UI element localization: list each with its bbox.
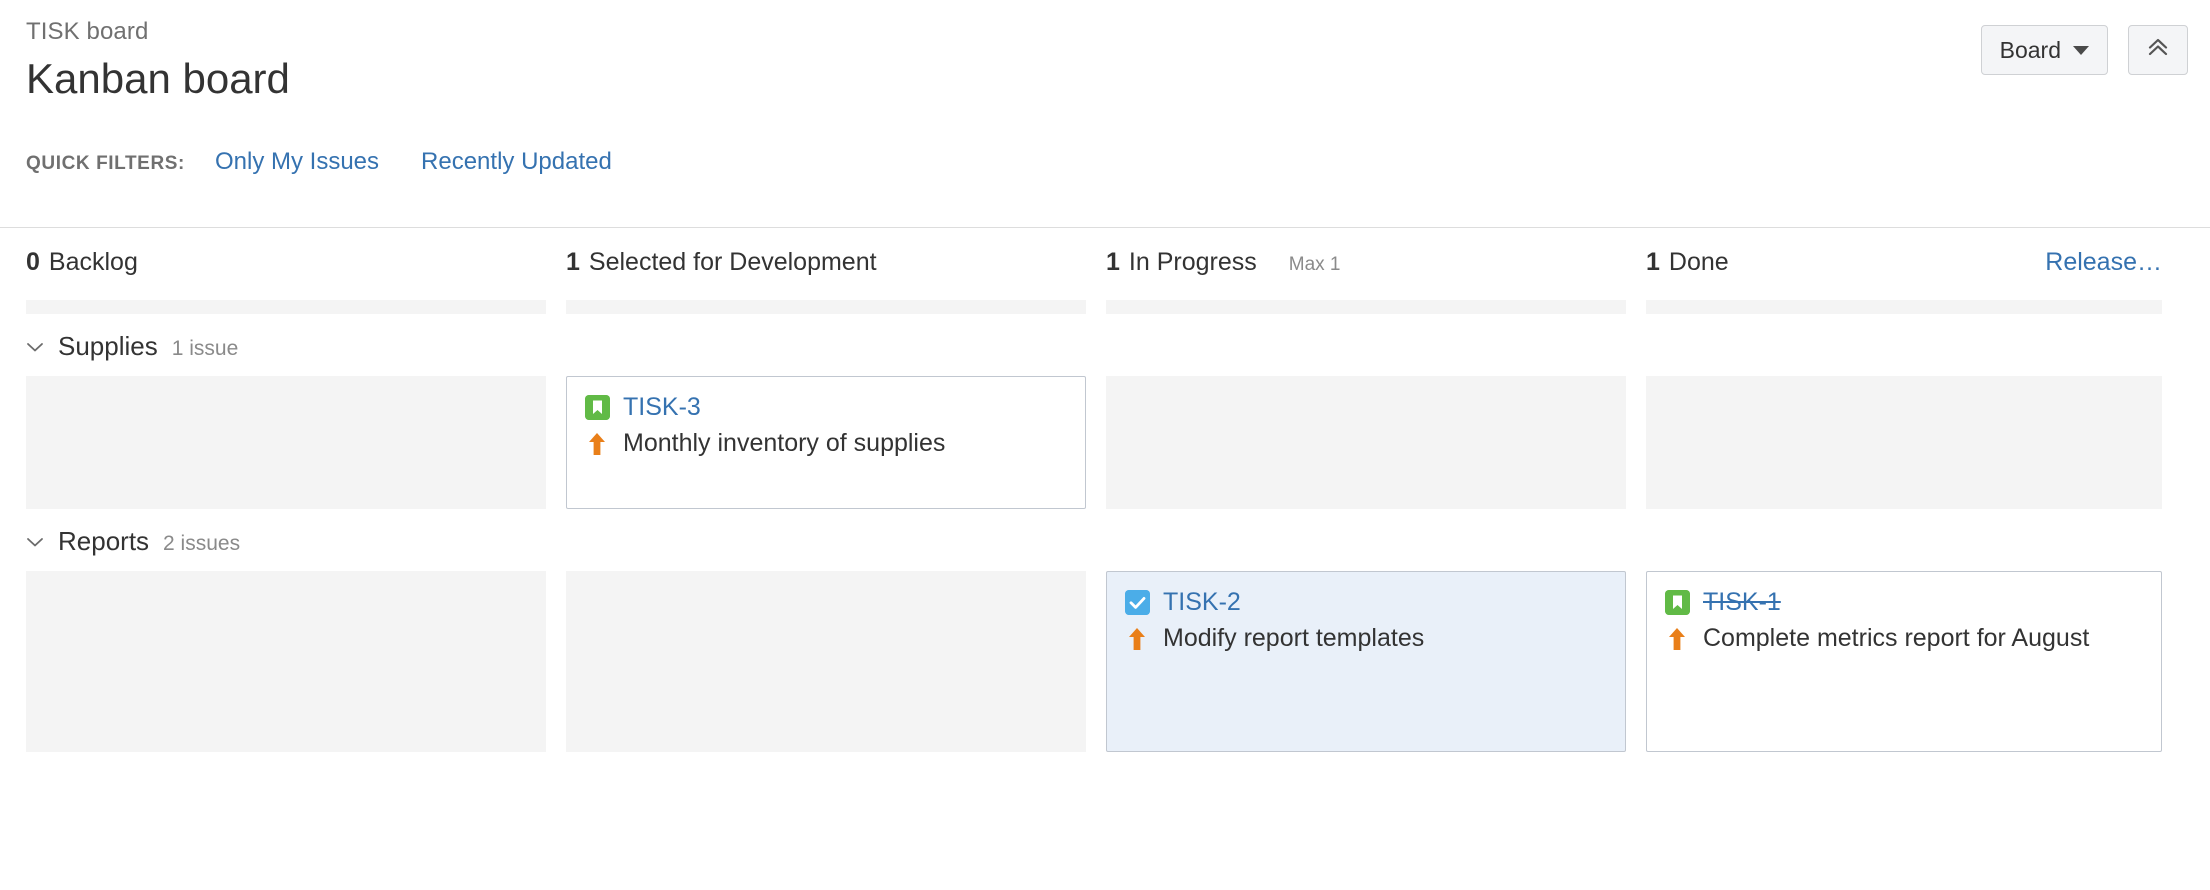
board-header: TISK board Kanban board Board QUICK FILT… [0,0,2210,228]
issue-summary: Monthly inventory of supplies [623,428,945,459]
dropzone-in-progress-reports[interactable]: TISK-2 Modify report templates [1106,571,1626,752]
issue-card-tisk-2[interactable]: TISK-2 Modify report templates [1106,571,1626,752]
swimlane-header-reports[interactable]: Reports 2 issues [26,509,2184,571]
header-actions: Board [1981,25,2188,75]
column-name: Done [1669,248,1729,277]
column-progress-strip [26,300,546,314]
issue-card-tisk-1[interactable]: TISK-1 Complete metrics report for Augus… [1646,571,2162,752]
breadcrumb[interactable]: TISK board [26,18,148,46]
priority-high-icon [583,428,611,460]
column-progress-strip [1106,300,1626,314]
column-progress-strip [566,300,1086,314]
board-dropdown-label: Board [2000,39,2061,62]
priority-high-icon [1123,623,1151,655]
swimlane-supplies: Supplies 1 issue TISK-3 [26,314,2184,509]
column-header-in-progress: 1 In Progress Max 1 [1106,248,1626,314]
issue-key-link[interactable]: TISK-2 [1163,586,1241,618]
column-name: Backlog [49,248,138,277]
dropzone-selected-for-development-supplies[interactable]: TISK-3 Monthly inventory of supplies [566,376,1086,509]
issue-key-link[interactable]: TISK-1 [1703,586,1781,618]
column-progress-strip [1646,300,2162,314]
dropzone-selected-for-development-reports[interactable] [566,571,1086,752]
swimlane-name: Reports [58,526,149,557]
release-link[interactable]: Release… [2045,248,2162,277]
page-title: Kanban board [26,54,290,104]
story-icon [1663,586,1691,618]
quick-filter-only-my-issues[interactable]: Only My Issues [215,148,379,176]
issue-summary: Complete metrics report for August [1703,623,2089,654]
quick-filters: QUICK FILTERS: Only My Issues Recently U… [26,148,612,176]
swimlane-columns-reports: TISK-2 Modify report templates [26,571,2184,752]
column-headers: 0 Backlog 1 Selected for Development 1 I… [26,228,2184,314]
column-name: In Progress [1129,248,1257,277]
quick-filter-recently-updated[interactable]: Recently Updated [421,148,612,176]
quick-filters-label: QUICK FILTERS: [26,153,185,175]
board-body: 0 Backlog 1 Selected for Development 1 I… [0,228,2210,778]
issue-key-link[interactable]: TISK-3 [623,391,701,423]
column-header-done: 1 Done Release… [1646,248,2162,314]
column-name: Selected for Development [589,248,877,277]
swimlane-header-supplies[interactable]: Supplies 1 issue [26,314,2184,376]
column-header-selected-for-development: 1 Selected for Development [566,248,1086,314]
column-header-backlog: 0 Backlog [26,248,546,314]
swimlane-issue-count: 2 issues [163,532,240,556]
swimlane-columns-supplies: TISK-3 Monthly inventory of supplies [26,376,2184,509]
board-bottom-padding [26,752,2184,778]
double-chevron-up-icon [2145,34,2171,65]
swimlane-name: Supplies [58,331,158,362]
dropzone-done-reports[interactable]: TISK-1 Complete metrics report for Augus… [1646,571,2162,752]
column-count: 1 [566,248,580,277]
priority-high-icon [1663,623,1691,655]
board-dropdown-button[interactable]: Board [1981,25,2108,75]
task-icon [1123,586,1151,618]
column-count: 1 [1646,248,1660,277]
collapse-header-button[interactable] [2128,25,2188,75]
dropzone-in-progress-supplies[interactable] [1106,376,1626,509]
column-max-constraint: Max 1 [1289,254,1341,276]
dropzone-backlog-supplies[interactable] [26,376,546,509]
swimlane-reports: Reports 2 issues TISK-2 [26,509,2184,752]
dropzone-backlog-reports[interactable] [26,571,546,752]
dropzone-done-supplies[interactable] [1646,376,2162,509]
story-icon [583,391,611,423]
issue-summary: Modify report templates [1163,623,1424,654]
chevron-down-icon [2073,46,2089,55]
chevron-down-icon[interactable] [26,338,44,357]
column-count: 1 [1106,248,1120,277]
column-count: 0 [26,248,40,277]
chevron-down-icon[interactable] [26,533,44,552]
issue-card-tisk-3[interactable]: TISK-3 Monthly inventory of supplies [566,376,1086,509]
swimlane-issue-count: 1 issue [172,337,239,361]
